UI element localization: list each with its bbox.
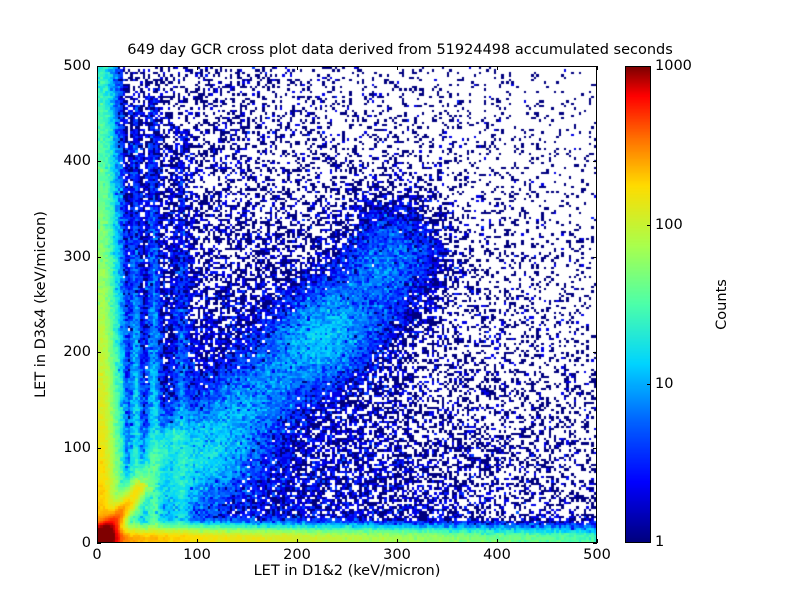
- x-axis-title: LET in D1&2 (keV/micron): [97, 563, 597, 579]
- figure-canvas: 649 day GCR cross plot data derived from…: [0, 0, 800, 600]
- x-tick-mark-top: [297, 66, 298, 70]
- colorbar-tick-mark: [647, 384, 651, 385]
- x-tick-mark: [497, 539, 498, 543]
- x-tick-mark: [297, 539, 298, 543]
- colorbar-tick-mark: [647, 542, 651, 543]
- x-tick-mark-top: [597, 66, 598, 70]
- x-tick-label: 200: [283, 547, 311, 563]
- colorbar[interactable]: [625, 66, 651, 543]
- title-line-1: 649 day GCR cross plot data derived from…: [0, 42, 800, 59]
- y-tick-mark: [97, 257, 101, 258]
- y-tick-mark-right: [593, 448, 597, 449]
- y-tick-mark-right: [593, 257, 597, 258]
- y-tick-mark: [97, 543, 101, 544]
- y-tick-mark: [97, 66, 101, 67]
- colorbar-tick-label: 1: [655, 534, 664, 550]
- y-tick-mark-right: [593, 543, 597, 544]
- y-tick-mark: [97, 161, 101, 162]
- x-tick-label: 100: [183, 547, 211, 563]
- y-tick-mark-right: [593, 161, 597, 162]
- x-tick-mark-top: [497, 66, 498, 70]
- y-tick-mark: [97, 352, 101, 353]
- y-tick-mark-right: [593, 66, 597, 67]
- colorbar-tick-mark: [647, 66, 651, 67]
- colorbar-title: Counts: [714, 66, 730, 543]
- x-tick-mark: [597, 539, 598, 543]
- x-tick-label: 0: [92, 547, 101, 563]
- y-tick-mark-right: [593, 352, 597, 353]
- x-tick-label: 500: [583, 547, 611, 563]
- y-tick-mark: [97, 448, 101, 449]
- x-tick-mark: [397, 539, 398, 543]
- x-tick-mark-top: [397, 66, 398, 70]
- x-tick-label: 400: [483, 547, 511, 563]
- colorbar-tick-label: 10: [655, 376, 673, 392]
- y-axis-title: LET in D3&4 (keV/micron): [33, 66, 49, 543]
- x-tick-mark-top: [197, 66, 198, 70]
- colorbar-gradient: [626, 67, 650, 542]
- colorbar-tick-label: 1000: [655, 58, 692, 74]
- x-tick-label: 300: [383, 547, 411, 563]
- density-heatmap-canvas: [98, 67, 596, 542]
- x-tick-mark: [197, 539, 198, 543]
- colorbar-tick-label: 100: [655, 217, 683, 233]
- scatter-density-plot[interactable]: [97, 66, 597, 543]
- colorbar-tick-mark: [647, 225, 651, 226]
